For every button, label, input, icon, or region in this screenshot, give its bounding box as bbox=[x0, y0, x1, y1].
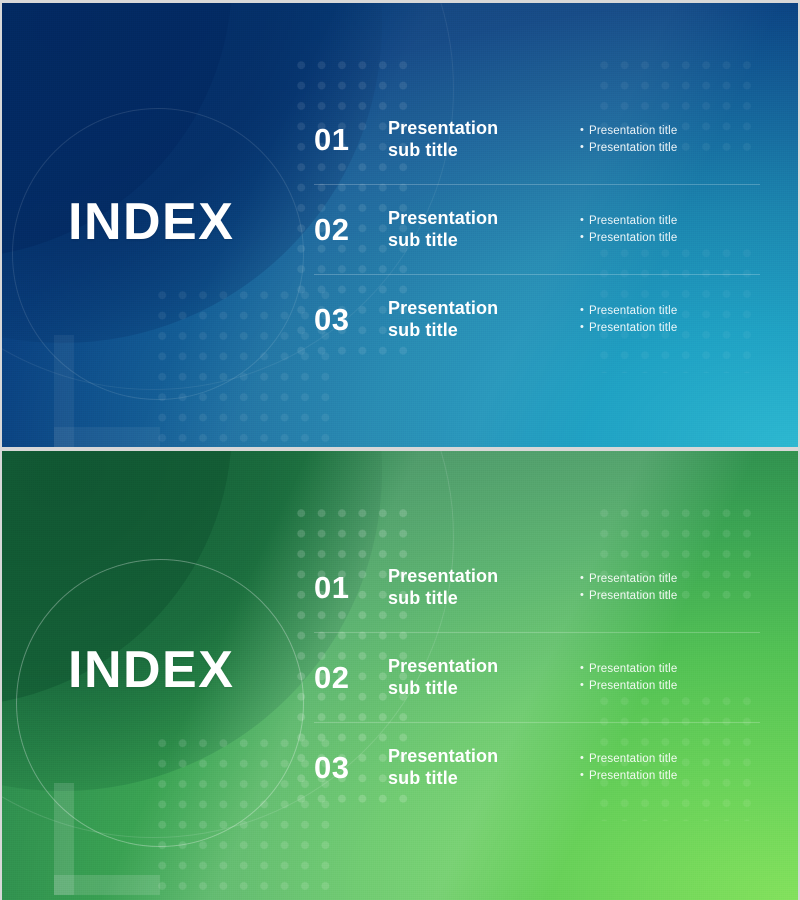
row-subtitle: Presentation sub title bbox=[388, 118, 568, 160]
bullet-marker-icon: • bbox=[580, 589, 589, 603]
bullet-label: Presentation title bbox=[589, 589, 760, 603]
row-number: 02 bbox=[314, 214, 388, 245]
bullet-marker-icon: • bbox=[580, 769, 589, 783]
row-subtitle-line1: Presentation bbox=[388, 118, 568, 139]
index-row-list: 01 Presentation sub title • Presentation… bbox=[314, 95, 760, 364]
row-number: 03 bbox=[314, 752, 388, 783]
bullet-marker-icon: • bbox=[580, 231, 589, 245]
bullet-label: Presentation title bbox=[589, 679, 760, 693]
bullet-marker-icon: • bbox=[580, 679, 589, 693]
row-subtitle-line2: sub title bbox=[388, 588, 568, 609]
page-title: INDEX bbox=[68, 196, 234, 248]
row-bullet-list: • Presentation title • Presentation titl… bbox=[568, 749, 760, 787]
list-item: • Presentation title bbox=[580, 124, 760, 138]
row-subtitle: Presentation sub title bbox=[388, 566, 568, 608]
list-item: • Presentation title bbox=[580, 572, 760, 586]
row-subtitle-line1: Presentation bbox=[388, 656, 568, 677]
index-row[interactable]: 02 Presentation sub title • Presentation… bbox=[314, 184, 760, 274]
bullet-marker-icon: • bbox=[580, 321, 589, 335]
row-bullet-list: • Presentation title • Presentation titl… bbox=[568, 569, 760, 607]
bullet-label: Presentation title bbox=[589, 752, 760, 766]
index-row[interactable]: 01 Presentation sub title • Presentation… bbox=[314, 95, 760, 184]
list-item: • Presentation title bbox=[580, 679, 760, 693]
page-title: INDEX bbox=[68, 644, 234, 696]
bullet-label: Presentation title bbox=[589, 214, 760, 228]
list-item: • Presentation title bbox=[580, 769, 760, 783]
bullet-marker-icon: • bbox=[580, 124, 589, 138]
row-subtitle-line2: sub title bbox=[388, 768, 568, 789]
index-row[interactable]: 03 Presentation sub title • Presentation… bbox=[314, 274, 760, 364]
row-subtitle-line2: sub title bbox=[388, 140, 568, 161]
row-subtitle: Presentation sub title bbox=[388, 208, 568, 250]
bullet-marker-icon: • bbox=[580, 662, 589, 676]
bullet-marker-icon: • bbox=[580, 141, 589, 155]
row-subtitle-line2: sub title bbox=[388, 320, 568, 341]
slide-blue[interactable]: INDEX 01 Presentation sub title • Presen… bbox=[2, 3, 798, 447]
row-bullet-list: • Presentation title • Presentation titl… bbox=[568, 121, 760, 159]
list-item: • Presentation title bbox=[580, 752, 760, 766]
bullet-marker-icon: • bbox=[580, 214, 589, 228]
list-item: • Presentation title bbox=[580, 662, 760, 676]
row-bullet-list: • Presentation title • Presentation titl… bbox=[568, 301, 760, 339]
row-number: 03 bbox=[314, 304, 388, 335]
bullet-marker-icon: • bbox=[580, 752, 589, 766]
row-subtitle: Presentation sub title bbox=[388, 298, 568, 340]
bullet-label: Presentation title bbox=[589, 769, 760, 783]
row-subtitle-line2: sub title bbox=[388, 678, 568, 699]
row-bullet-list: • Presentation title • Presentation titl… bbox=[568, 659, 760, 697]
bullet-label: Presentation title bbox=[589, 321, 760, 335]
slide-green[interactable]: INDEX 01 Presentation sub title • Presen… bbox=[2, 451, 798, 900]
list-item: • Presentation title bbox=[580, 141, 760, 155]
bullet-marker-icon: • bbox=[580, 304, 589, 318]
bullet-marker-icon: • bbox=[580, 572, 589, 586]
row-subtitle-line2: sub title bbox=[388, 230, 568, 251]
row-subtitle-line1: Presentation bbox=[388, 208, 568, 229]
bullet-label: Presentation title bbox=[589, 141, 760, 155]
slide-content: INDEX 01 Presentation sub title • Presen… bbox=[2, 3, 798, 447]
row-number: 01 bbox=[314, 124, 388, 155]
list-item: • Presentation title bbox=[580, 214, 760, 228]
list-item: • Presentation title bbox=[580, 589, 760, 603]
index-row[interactable]: 03 Presentation sub title • Presentation… bbox=[314, 722, 760, 812]
row-number: 02 bbox=[314, 662, 388, 693]
bullet-label: Presentation title bbox=[589, 231, 760, 245]
bullet-label: Presentation title bbox=[589, 124, 760, 138]
bullet-label: Presentation title bbox=[589, 304, 760, 318]
slide-content: INDEX 01 Presentation sub title • Presen… bbox=[2, 451, 798, 900]
list-item: • Presentation title bbox=[580, 304, 760, 318]
index-row-list: 01 Presentation sub title • Presentation… bbox=[314, 543, 760, 812]
index-row[interactable]: 02 Presentation sub title • Presentation… bbox=[314, 632, 760, 722]
row-subtitle: Presentation sub title bbox=[388, 746, 568, 788]
row-bullet-list: • Presentation title • Presentation titl… bbox=[568, 211, 760, 249]
list-item: • Presentation title bbox=[580, 321, 760, 335]
row-subtitle-line1: Presentation bbox=[388, 566, 568, 587]
index-row[interactable]: 01 Presentation sub title • Presentation… bbox=[314, 543, 760, 632]
bullet-label: Presentation title bbox=[589, 572, 760, 586]
row-number: 01 bbox=[314, 572, 388, 603]
row-subtitle: Presentation sub title bbox=[388, 656, 568, 698]
row-subtitle-line1: Presentation bbox=[388, 746, 568, 767]
bullet-label: Presentation title bbox=[589, 662, 760, 676]
row-subtitle-line1: Presentation bbox=[388, 298, 568, 319]
slide-deck: INDEX 01 Presentation sub title • Presen… bbox=[0, 0, 800, 900]
list-item: • Presentation title bbox=[580, 231, 760, 245]
